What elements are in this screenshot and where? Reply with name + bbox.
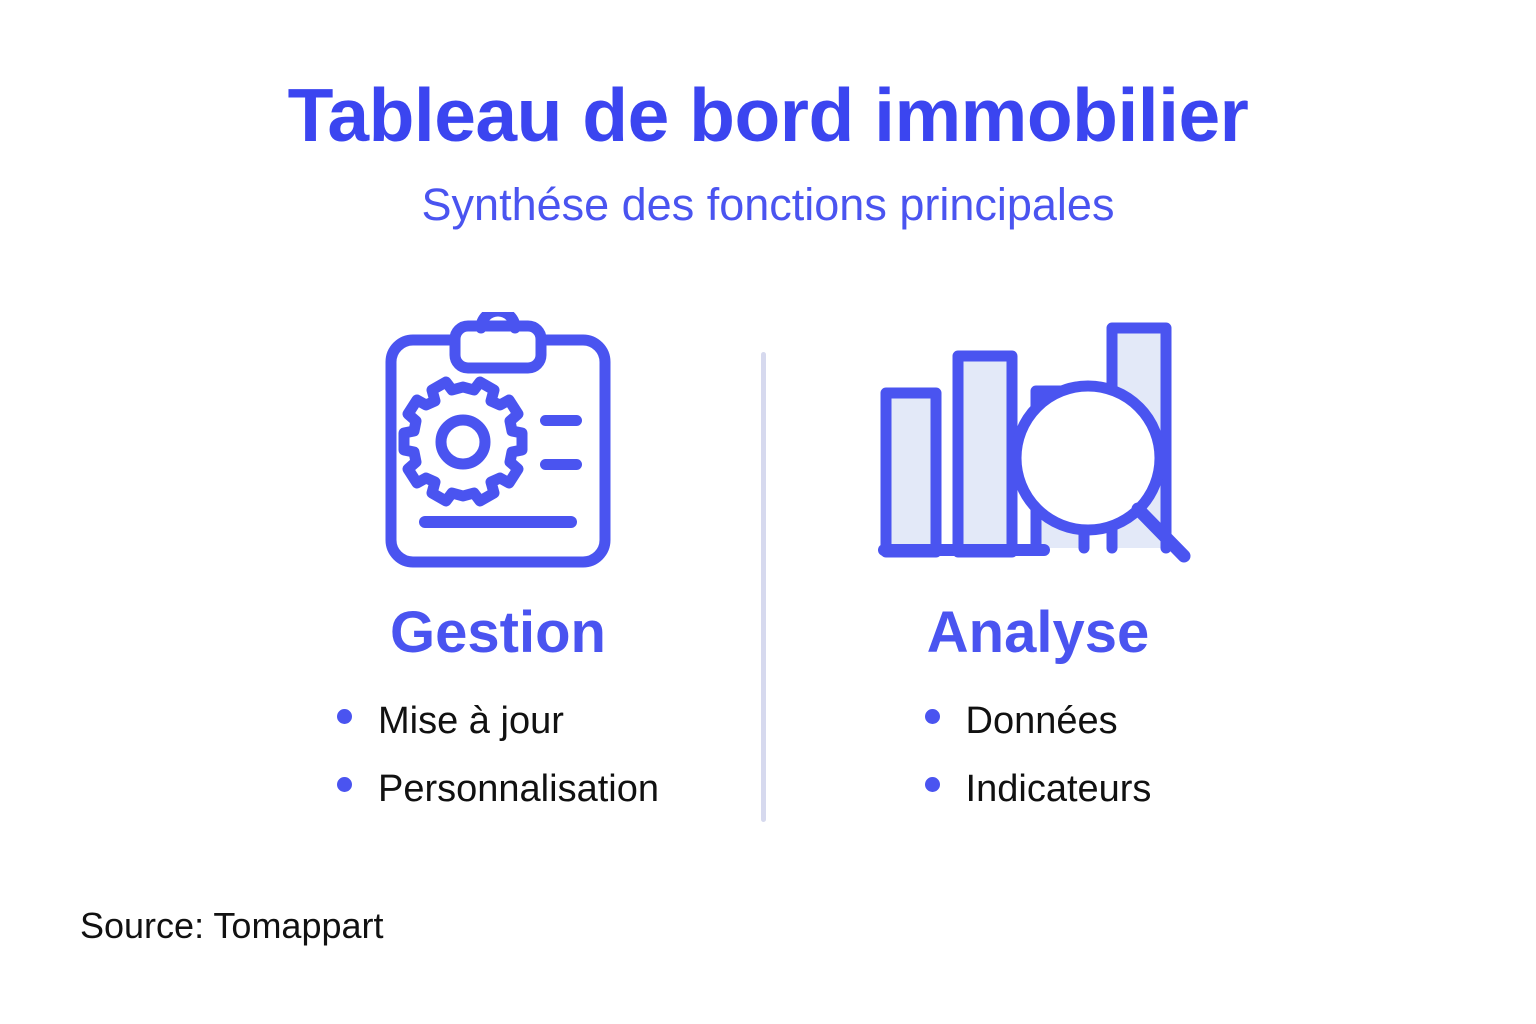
header: Tableau de bord immobilier Synthése des … <box>0 0 1536 228</box>
source-attribution: Source: Tomappart <box>80 905 384 947</box>
bullet-list-gestion: Mise à jour Personnalisation <box>337 702 659 808</box>
list-item: Indicateurs <box>925 770 1152 808</box>
column-heading-analyse: Analyse <box>927 604 1149 662</box>
column-analyse: Analyse Données Indicateurs <box>828 300 1248 808</box>
list-item: Données <box>925 702 1152 740</box>
list-item-label: Mise à jour <box>378 702 564 740</box>
page-title: Tableau de bord immobilier <box>0 78 1536 153</box>
column-gestion: Gestion Mise à jour Personnalisation <box>288 300 708 808</box>
bar-chart-magnifier-icon-wrap <box>873 300 1203 570</box>
clipboard-gear-icon-wrap <box>378 300 618 570</box>
bullet-dot-icon <box>925 777 940 792</box>
bullet-dot-icon <box>925 709 940 724</box>
list-item: Personnalisation <box>337 770 659 808</box>
bar-chart-magnifier-icon <box>876 308 1201 570</box>
list-item-label: Données <box>966 702 1118 740</box>
bullet-dot-icon <box>337 777 352 792</box>
clipboard-gear-icon <box>383 312 613 570</box>
page-subtitle: Synthése des fonctions principales <box>0 181 1536 228</box>
bullet-dot-icon <box>337 709 352 724</box>
list-item-label: Personnalisation <box>378 770 659 808</box>
column-heading-gestion: Gestion <box>390 604 606 662</box>
columns-container: Gestion Mise à jour Personnalisation <box>0 300 1536 860</box>
list-item-label: Indicateurs <box>966 770 1152 808</box>
list-item: Mise à jour <box>337 702 659 740</box>
bullet-list-analyse: Données Indicateurs <box>925 702 1152 808</box>
